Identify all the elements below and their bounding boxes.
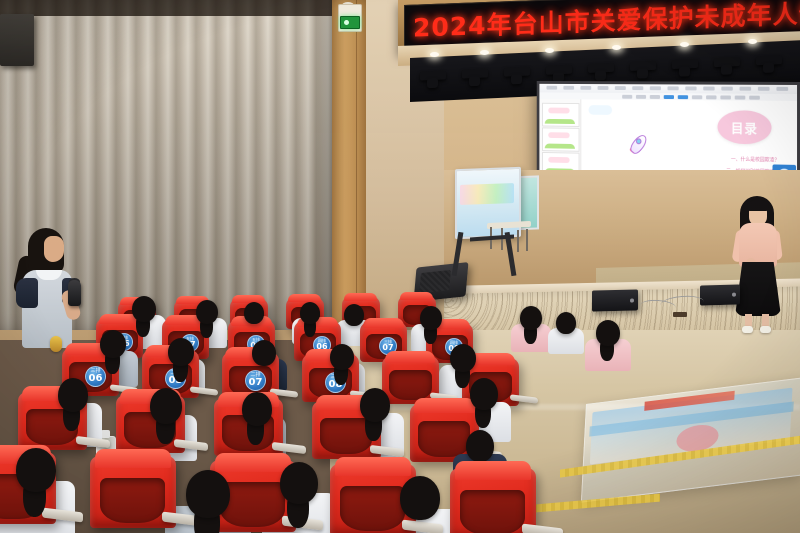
curtain-track xyxy=(0,0,332,16)
auditorium-seat xyxy=(90,456,176,528)
stage-monitor xyxy=(700,284,740,305)
presenter-fringe xyxy=(747,200,769,211)
thumbnail-hill xyxy=(545,144,575,149)
ribbon-button xyxy=(650,95,660,99)
ceiling-downlight xyxy=(545,48,554,53)
student-head xyxy=(330,344,354,370)
presenter-speaker xyxy=(726,196,790,336)
ribbon-button xyxy=(720,95,731,99)
seat-inner-shell xyxy=(220,482,285,527)
thumbnail-shape xyxy=(548,132,569,138)
cable-box xyxy=(673,312,687,317)
seat-headrest xyxy=(385,351,435,363)
student-head xyxy=(242,392,272,426)
seat-number-badge: 三排06 xyxy=(85,366,106,387)
student-head xyxy=(58,378,88,412)
ceiling-downlight xyxy=(480,50,489,55)
presenter-shoe-left xyxy=(742,326,753,333)
student-head xyxy=(450,344,476,372)
student-face xyxy=(44,236,64,262)
seat-badge-row: 三排 xyxy=(384,340,392,344)
exit-sign-icon xyxy=(340,16,360,29)
seat-inner-shell xyxy=(100,478,165,523)
table-top xyxy=(487,221,531,229)
stage-spotlight-head xyxy=(637,68,648,78)
student-head xyxy=(168,338,194,366)
ribbon-button xyxy=(622,95,632,99)
presenter-shoe-right xyxy=(760,326,771,333)
thumbnail-shape xyxy=(548,157,569,163)
student-head xyxy=(470,378,498,410)
auditorium-seat xyxy=(450,468,536,533)
whiteboard-image xyxy=(460,183,514,205)
presenter-skirt xyxy=(735,262,781,316)
ceiling-downlight xyxy=(680,42,689,47)
toc-item-1: 一、什么是校园欺凌？ xyxy=(731,156,779,164)
stage-spotlight-head xyxy=(511,74,522,84)
student-head xyxy=(252,340,276,366)
auditorium-seat xyxy=(382,356,439,404)
ribbon-button xyxy=(735,96,746,100)
ribbon-button xyxy=(706,95,716,99)
student-head xyxy=(186,470,230,518)
slide-thumbnail xyxy=(542,103,579,127)
student-head xyxy=(420,306,442,330)
ribbon-button xyxy=(636,95,646,99)
thumbnail-shape xyxy=(548,108,569,114)
cloud-icon xyxy=(589,105,613,115)
seat-inner-shell xyxy=(340,486,405,531)
seat-badge-number: 06 xyxy=(89,374,103,384)
student-head xyxy=(280,462,318,504)
toolbar-button xyxy=(563,86,574,90)
student-head xyxy=(344,304,364,326)
student-head xyxy=(150,388,182,424)
stage-spotlight-head xyxy=(763,62,774,72)
table-leg xyxy=(517,230,519,252)
toolbar-button xyxy=(758,87,770,91)
toolbar-button xyxy=(776,87,788,91)
seat-badge-number: 07 xyxy=(249,378,263,388)
stage-monitor xyxy=(592,289,638,311)
ceiling-downlight xyxy=(612,45,621,50)
toolbar-button xyxy=(703,87,714,91)
toolbar-button xyxy=(632,86,643,90)
seat-badge-row: 二排 xyxy=(250,373,260,378)
toolbar-button xyxy=(598,86,609,90)
microphone-icon xyxy=(68,280,81,306)
toolbar-button xyxy=(721,87,732,91)
toolbar-button xyxy=(685,86,696,90)
seat-number-badge: 二排07 xyxy=(245,370,266,391)
seat-badge-row: 四排 xyxy=(318,339,326,343)
seat-inner-shell xyxy=(389,370,432,400)
stage-spotlight-head xyxy=(595,70,606,80)
student-head xyxy=(132,296,156,322)
wall-speaker xyxy=(0,14,34,66)
seat-headrest xyxy=(363,318,404,328)
student-head xyxy=(244,302,264,324)
table-leg xyxy=(526,229,528,251)
presenter-blouse xyxy=(739,223,777,267)
student-head xyxy=(300,302,320,324)
student-head xyxy=(360,388,390,422)
seat-headrest xyxy=(335,457,411,476)
seat-headrest xyxy=(215,453,291,472)
toolbar-button xyxy=(615,86,626,90)
bottle-cap xyxy=(101,430,110,438)
student-head xyxy=(196,300,218,324)
stage-spotlight-head xyxy=(679,66,690,76)
student-head xyxy=(100,330,126,358)
auditorium-photo: 2024年台山市关爱保护未成年人健 目录 一、什么是校园欺凌？ 二、如何识别校园… xyxy=(0,0,800,533)
seat-headrest xyxy=(288,294,321,302)
student-head xyxy=(466,430,494,462)
seat-headrest xyxy=(414,398,475,413)
seat-headrest xyxy=(232,295,265,303)
ceiling-downlight xyxy=(748,39,757,44)
toolbar-button xyxy=(740,87,752,91)
keychain-charm xyxy=(50,336,62,352)
slide-heading-badge: 目录 xyxy=(717,110,771,144)
toolbar-button xyxy=(667,86,678,90)
stage-spotlight-head xyxy=(427,78,438,88)
seat-headrest xyxy=(344,293,377,301)
student-head xyxy=(520,306,542,330)
ribbon-button xyxy=(692,95,702,99)
slide-thumbnail xyxy=(542,127,579,151)
toolbar-button xyxy=(650,86,661,90)
stage-spotlight-head xyxy=(469,76,480,86)
student-head xyxy=(400,476,440,520)
student-head xyxy=(556,312,576,334)
wood-column xyxy=(330,0,366,330)
seat-headrest xyxy=(455,461,531,480)
ribbon-button xyxy=(749,96,760,100)
student-sleeve-left xyxy=(16,278,38,308)
thumbnail-hill xyxy=(545,119,575,124)
toolbar-button xyxy=(580,86,591,90)
student-head xyxy=(596,320,620,346)
seat-badge-row: 三排 xyxy=(90,369,100,374)
stage-spotlight-head xyxy=(721,64,732,74)
toolbar-button xyxy=(546,86,557,90)
seat-headrest xyxy=(95,449,171,468)
seat-headrest xyxy=(400,292,433,300)
ribbon-button xyxy=(664,95,674,99)
student-head xyxy=(16,448,56,492)
seat-inner-shell xyxy=(460,490,525,533)
ceiling-downlight xyxy=(430,52,439,57)
ribbon-button xyxy=(678,95,688,99)
seat-inner-shell xyxy=(418,421,470,457)
